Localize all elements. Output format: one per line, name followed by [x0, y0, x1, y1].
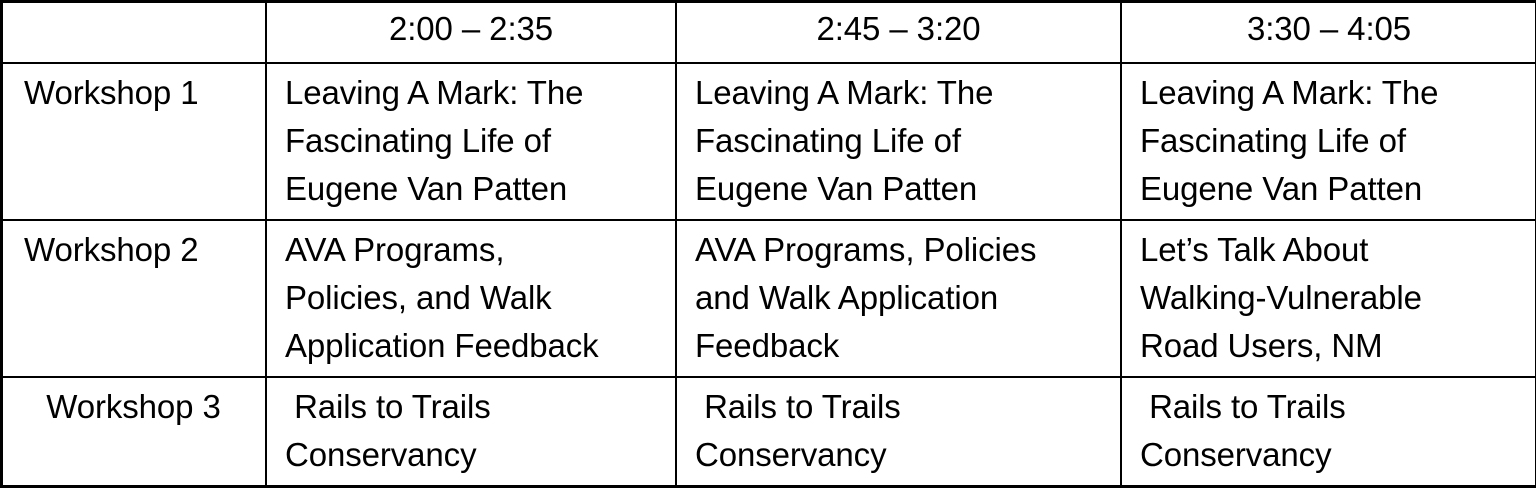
session-line: Leaving A Mark: The — [285, 69, 667, 117]
row-label-cell-workshop-2: Workshop 2 — [1, 220, 266, 377]
header-cell-timeslot-2: 2:45 – 3:20 — [676, 1, 1121, 63]
table-row: Workshop 3 Rails to Trails Conservancy R… — [1, 377, 1536, 487]
header-cell-timeslot-1: 2:00 – 2:35 — [266, 1, 676, 63]
session-line: Rails to Trails — [285, 383, 667, 431]
session-line: Leaving A Mark: The — [695, 69, 1112, 117]
session-title-r1c1: Leaving A Mark: The Fascinating Life of … — [267, 64, 675, 219]
timeslot-label-3: 3:30 – 4:05 — [1122, 2, 1536, 56]
row-label-workshop-3: Workshop 3 — [2, 378, 265, 437]
row-label-workshop-1: Workshop 1 — [2, 64, 265, 123]
session-line: Conservancy — [695, 431, 1112, 479]
header-corner-cell — [1, 1, 266, 63]
workshop-schedule-table: 2:00 – 2:35 2:45 – 3:20 3:30 – 4:05 Work… — [0, 0, 1536, 488]
session-title-r1c3: Leaving A Mark: The Fascinating Life of … — [1122, 64, 1536, 219]
session-line: Eugene Van Patten — [695, 165, 1112, 213]
session-line: Road Users, NM — [1140, 322, 1528, 370]
row-label-cell-workshop-3: Workshop 3 — [1, 377, 266, 487]
session-line: AVA Programs, Policies — [695, 226, 1112, 274]
session-line: Eugene Van Patten — [1140, 165, 1528, 213]
session-title-r2c2: AVA Programs, Policies and Walk Applicat… — [677, 221, 1120, 376]
session-line: Conservancy — [1140, 431, 1528, 479]
session-line: Fascinating Life of — [285, 117, 667, 165]
session-title-r2c1: AVA Programs, Policies, and Walk Applica… — [267, 221, 675, 376]
session-cell-r3c1: Rails to Trails Conservancy — [266, 377, 676, 487]
session-title-r2c3: Let’s Talk About Walking-Vulnerable Road… — [1122, 221, 1536, 376]
session-title-r3c3: Rails to Trails Conservancy — [1122, 378, 1536, 485]
session-cell-r1c1: Leaving A Mark: The Fascinating Life of … — [266, 63, 676, 220]
session-line: Fascinating Life of — [695, 117, 1112, 165]
timeslot-label-2: 2:45 – 3:20 — [677, 2, 1120, 56]
timeslot-label-1: 2:00 – 2:35 — [267, 2, 675, 56]
row-label-cell-workshop-1: Workshop 1 — [1, 63, 266, 220]
session-line: Conservancy — [285, 431, 667, 479]
session-line: Application Feedback — [285, 322, 667, 370]
session-line: Rails to Trails — [695, 383, 1112, 431]
session-line: Leaving A Mark: The — [1140, 69, 1528, 117]
session-cell-r1c3: Leaving A Mark: The Fascinating Life of … — [1121, 63, 1536, 220]
table-row: Workshop 2 AVA Programs, Policies, and W… — [1, 220, 1536, 377]
session-line: Rails to Trails — [1140, 383, 1528, 431]
session-line: Let’s Talk About — [1140, 226, 1528, 274]
session-title-r3c2: Rails to Trails Conservancy — [677, 378, 1120, 485]
session-cell-r1c2: Leaving A Mark: The Fascinating Life of … — [676, 63, 1121, 220]
session-cell-r2c2: AVA Programs, Policies and Walk Applicat… — [676, 220, 1121, 377]
session-line: Feedback — [695, 322, 1112, 370]
session-cell-r2c1: AVA Programs, Policies, and Walk Applica… — [266, 220, 676, 377]
header-corner-label — [2, 2, 265, 62]
session-line: Policies, and Walk — [285, 274, 667, 322]
session-line: Eugene Van Patten — [285, 165, 667, 213]
session-line: Fascinating Life of — [1140, 117, 1528, 165]
header-cell-timeslot-3: 3:30 – 4:05 — [1121, 1, 1536, 63]
session-cell-r2c3: Let’s Talk About Walking-Vulnerable Road… — [1121, 220, 1536, 377]
session-line: and Walk Application — [695, 274, 1112, 322]
table-row: Workshop 1 Leaving A Mark: The Fascinati… — [1, 63, 1536, 220]
table-header-row: 2:00 – 2:35 2:45 – 3:20 3:30 – 4:05 — [1, 1, 1536, 63]
session-title-r3c1: Rails to Trails Conservancy — [267, 378, 675, 485]
session-line: AVA Programs, — [285, 226, 667, 274]
row-label-workshop-2: Workshop 2 — [2, 221, 265, 280]
session-cell-r3c2: Rails to Trails Conservancy — [676, 377, 1121, 487]
session-cell-r3c3: Rails to Trails Conservancy — [1121, 377, 1536, 487]
session-title-r1c2: Leaving A Mark: The Fascinating Life of … — [677, 64, 1120, 219]
session-line: Walking-Vulnerable — [1140, 274, 1528, 322]
